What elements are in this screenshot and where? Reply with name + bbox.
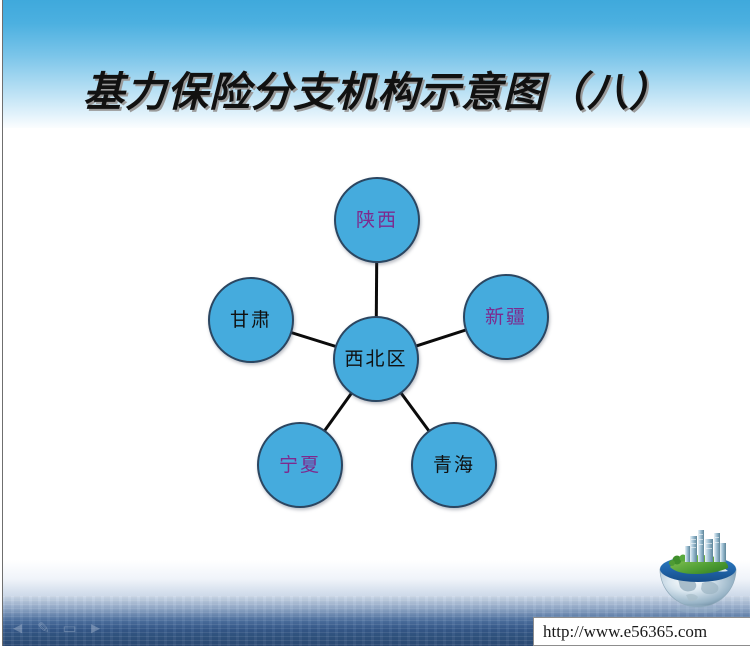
node-shaanxi[interactable]: 陕西 (334, 177, 420, 263)
node-label-qinghai: 青海 (433, 456, 475, 475)
node-label-shaanxi: 陕西 (356, 211, 398, 230)
node-qinghai[interactable]: 青海 (411, 422, 497, 508)
slide-title: 基力保险分支机构示意图（八） (2, 58, 750, 118)
node-label-northwest-region: 西北区 (344, 350, 407, 369)
presentation-slide: 基力保险分支机构示意图（八） 陕西 新疆 甘肃 西北区 宁夏 青海 (0, 0, 750, 646)
node-label-ningxia: 宁夏 (279, 456, 321, 475)
org-chart-diagram: 陕西 新疆 甘肃 西北区 宁夏 青海 (182, 160, 572, 520)
previous-slide-icon[interactable]: ◄ (9, 621, 26, 637)
node-center-northwest-region[interactable]: 西北区 (333, 316, 419, 402)
website-url-box[interactable]: http://www.e56365.com (533, 617, 750, 646)
node-gansu[interactable]: 甘肃 (208, 277, 294, 363)
node-label-xinjiang: 新疆 (485, 308, 527, 327)
node-ningxia[interactable]: 宁夏 (257, 422, 343, 508)
node-xinjiang[interactable]: 新疆 (463, 274, 549, 360)
node-label-gansu: 甘肃 (230, 311, 272, 330)
slideshow-controls[interactable]: ◄ ✎ ▭ ► (9, 618, 109, 640)
globe-city-logo-icon (650, 527, 746, 615)
next-slide-icon[interactable]: ► (87, 621, 104, 637)
menu-icon[interactable]: ▭ (61, 621, 78, 637)
pen-tool-icon[interactable]: ✎ (35, 621, 52, 637)
website-url-text: http://www.e56365.com (543, 622, 707, 642)
